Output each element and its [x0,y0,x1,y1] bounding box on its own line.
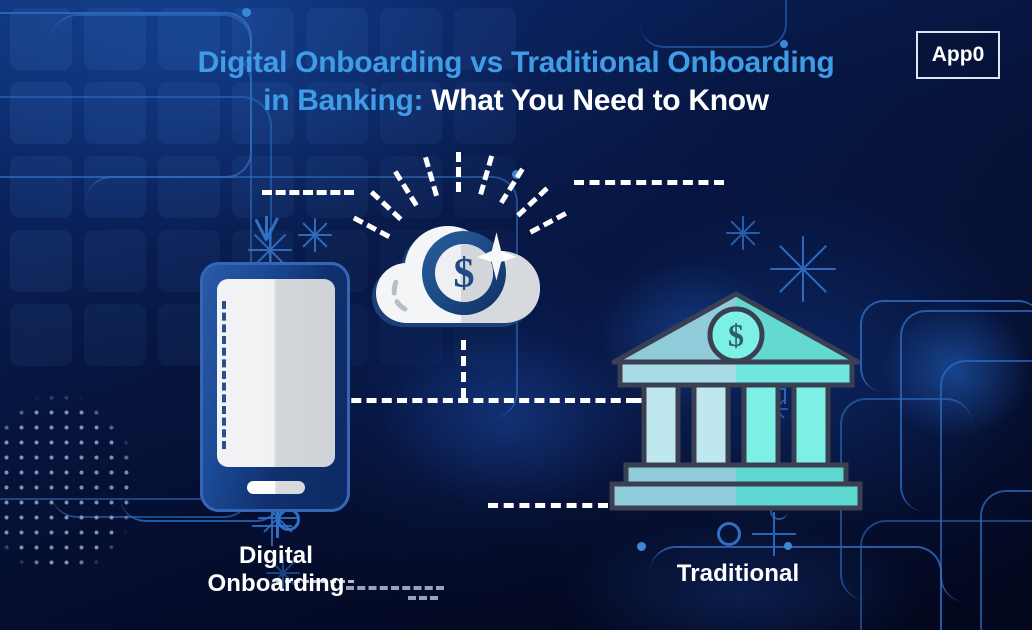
bank-architrave [620,362,852,385]
title-line-2-accent: in Banking: [263,84,423,117]
label-traditional: Traditional [630,560,846,588]
dashed-upper-left [262,190,354,195]
title-line-2-plain: What You Need to Know [423,84,769,117]
label-digital-line-2: Onboarding [208,570,345,597]
smartphone-icon [200,262,350,512]
brand-logo-text: App0 [932,43,985,67]
bank-columns [644,385,828,465]
svg-text:$: $ [728,317,744,353]
phone-antenna-ray [276,512,279,538]
page-title: Digital Onboarding vs Traditional Onboar… [0,44,1032,120]
brand-logo[interactable]: App0 [916,31,1000,79]
smartphone-screen-dashed-edge [222,301,226,449]
smartphone-body [200,262,350,512]
cloud-ray-5 [478,155,494,195]
label-digital-onboarding: Digital Onboarding [170,542,382,598]
bank-dollar-coin-icon: $ [710,309,762,361]
dashed-spine-left [336,398,636,403]
bank-base [612,465,860,508]
cloud-coin: $ [422,231,506,315]
dashed-cloud-stem [461,340,466,398]
bank-building-icon: $ [608,288,864,513]
title-line-1: Digital Onboarding vs Traditional Onboar… [0,44,1032,82]
cloud-ray-4 [456,152,461,192]
dashed-upper-right [574,180,724,185]
label-traditional-text: Traditional [677,560,799,587]
dashed-lower-bank [488,503,608,508]
title-line-2: in Banking: What You Need to Know [0,82,1032,120]
cloud-ray-6 [499,168,524,205]
hero-banner-canvas: Digital Onboarding vs Traditional Onboar… [0,0,1032,630]
smartphone-home-button [247,481,305,494]
cloud-dollar-icon: $ [372,205,550,345]
dashed-under-digital-2 [408,596,438,600]
label-digital-line-1: Digital [239,542,313,569]
smartphone-screen [217,279,335,467]
cloud-ray-2 [393,170,418,207]
cloud-ray-3 [423,157,439,197]
svg-text:$: $ [454,251,475,297]
